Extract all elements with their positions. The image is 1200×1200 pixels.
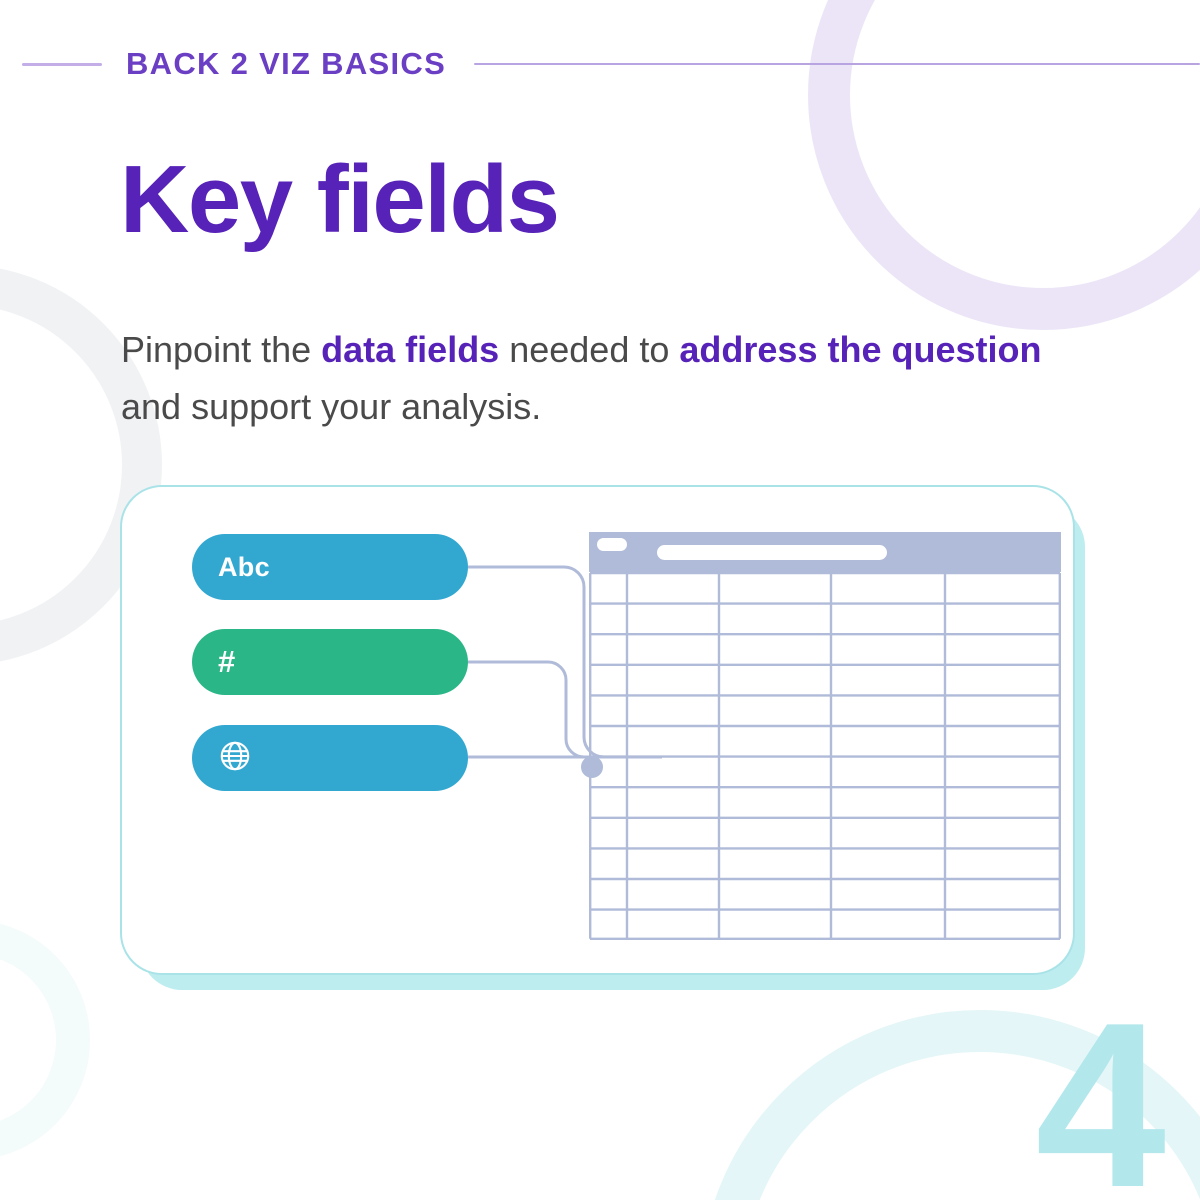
eyebrow-rule-left xyxy=(22,63,102,66)
table-header-bar xyxy=(589,532,1061,572)
field-pill-number[interactable]: # xyxy=(192,629,468,695)
field-pill-string[interactable]: Abc xyxy=(192,534,468,600)
eyebrow-label: BACK 2 VIZ BASICS xyxy=(126,46,446,82)
hash-number-icon: # xyxy=(218,644,236,680)
step-number: 4 xyxy=(1035,987,1162,1200)
body-segment-2: needed to xyxy=(499,329,679,370)
field-pill-geo[interactable] xyxy=(192,725,468,791)
body-emphasis-1: data fields xyxy=(321,329,499,370)
eyebrow-header: BACK 2 VIZ BASICS xyxy=(0,44,1200,84)
decorative-ring-teal-small-icon xyxy=(0,920,90,1160)
page-title: Key fields xyxy=(120,152,559,248)
body-emphasis-2: address the question xyxy=(679,329,1041,370)
connector-junction-dot xyxy=(581,756,603,778)
body-copy: Pinpoint the data fields needed to addre… xyxy=(121,322,1061,436)
table-header-tab xyxy=(597,538,627,551)
abc-text-icon: Abc xyxy=(218,552,270,583)
table-grid xyxy=(589,572,1061,940)
eyebrow-rule-right xyxy=(474,63,1200,65)
body-segment-3: and support your analysis. xyxy=(121,386,541,427)
slide-canvas: BACK 2 VIZ BASICS Key fields Pinpoint th… xyxy=(0,0,1200,1200)
data-table xyxy=(589,532,1061,942)
illustration-card: Abc # xyxy=(120,485,1075,975)
body-segment-1: Pinpoint the xyxy=(121,329,321,370)
table-header-title-placeholder xyxy=(657,545,887,560)
globe-geo-icon xyxy=(218,739,252,778)
